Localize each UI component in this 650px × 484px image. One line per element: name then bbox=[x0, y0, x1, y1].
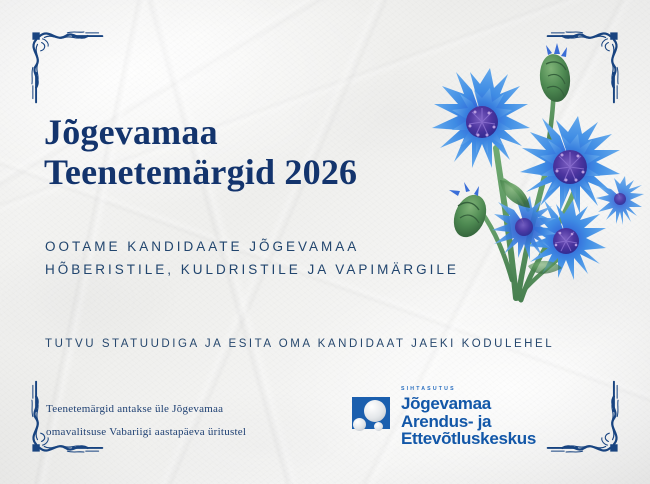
logo-wordmark: SIHTASUTUS Jõgevamaa Arendus- ja Ettevõt… bbox=[401, 387, 602, 446]
flower-bud-small-right bbox=[596, 176, 644, 225]
poster-call-to-action: Tutvu statuudiga ja esita oma kandidaat … bbox=[45, 336, 635, 352]
bubbles-square-logo-icon bbox=[350, 394, 396, 440]
fineprint-line-2: omavalitsuse Vabariigi aastapäeva üritus… bbox=[46, 421, 316, 444]
poster-canvas: Jõgevamaa Teenetemärgid 2026 Ootame kand… bbox=[0, 0, 650, 484]
poster-title: Jõgevamaa Teenetemärgid 2026 bbox=[44, 112, 464, 193]
organisation-logo: SIHTASUTUS Jõgevamaa Arendus- ja Ettevõt… bbox=[350, 391, 602, 443]
cornflower-right bbox=[520, 116, 620, 214]
corner-flourish-icon-top-right bbox=[544, 14, 636, 106]
poster-subtitle: Ootame kandidaate Jõgevamaa Hõberistile,… bbox=[45, 235, 565, 281]
logo-line-1: Jõgevamaa bbox=[401, 395, 602, 412]
logo-kicker: SIHTASUTUS bbox=[401, 387, 602, 392]
fineprint-line-1: Teenetemärgid antakse üle Jõgevamaa bbox=[46, 398, 316, 421]
title-line-2: Teenetemärgid 2026 bbox=[44, 152, 464, 192]
logo-line-2: Arendus- ja Ettevõtluskeskus bbox=[401, 413, 602, 447]
subtitle-line-2: Hõberistile, Kuldristile ja Vapimärgile bbox=[45, 262, 459, 277]
subtitle-line-1: Ootame kandidaate Jõgevamaa bbox=[45, 239, 359, 254]
poster-fineprint: Teenetemärgid antakse üle Jõgevamaa omav… bbox=[46, 398, 316, 443]
corner-flourish-icon-top-left bbox=[14, 14, 106, 106]
title-line-1: Jõgevamaa bbox=[44, 112, 218, 152]
